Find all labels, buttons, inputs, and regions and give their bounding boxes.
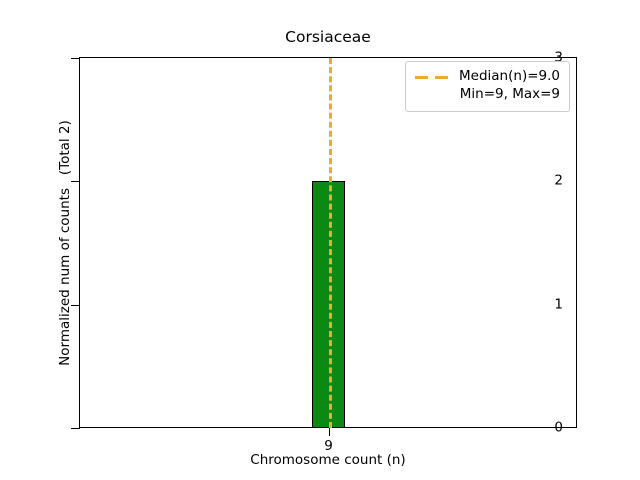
- legend-label-minmax: Min=9, Max=9: [460, 86, 560, 104]
- y-tick-label-0: 0: [554, 421, 563, 435]
- legend-text: Median(n)=9.0 Min=9, Max=9: [459, 68, 560, 104]
- x-tick-mark-9: [329, 427, 330, 436]
- matplotlib-figure: Corsiaceae 0 1 2 3 Normalized num of cou…: [0, 0, 640, 480]
- median-line: [329, 58, 332, 428]
- chart-title: Corsiaceae: [79, 28, 577, 46]
- x-axis-label: Chromosome count (n): [79, 452, 577, 468]
- legend-dashed-line-icon: [415, 69, 451, 86]
- y-tick-label-1: 1: [554, 298, 563, 312]
- y-tick-label-2: 2: [554, 175, 563, 189]
- plot-area: 0 1 2 3 Normalized num of counts (Total …: [79, 57, 577, 428]
- legend-label-median: Median(n)=9.0: [459, 68, 560, 86]
- legend: Median(n)=9.0 Min=9, Max=9: [405, 61, 570, 112]
- y-axis-label: Normalized num of counts (Total 2): [57, 33, 73, 453]
